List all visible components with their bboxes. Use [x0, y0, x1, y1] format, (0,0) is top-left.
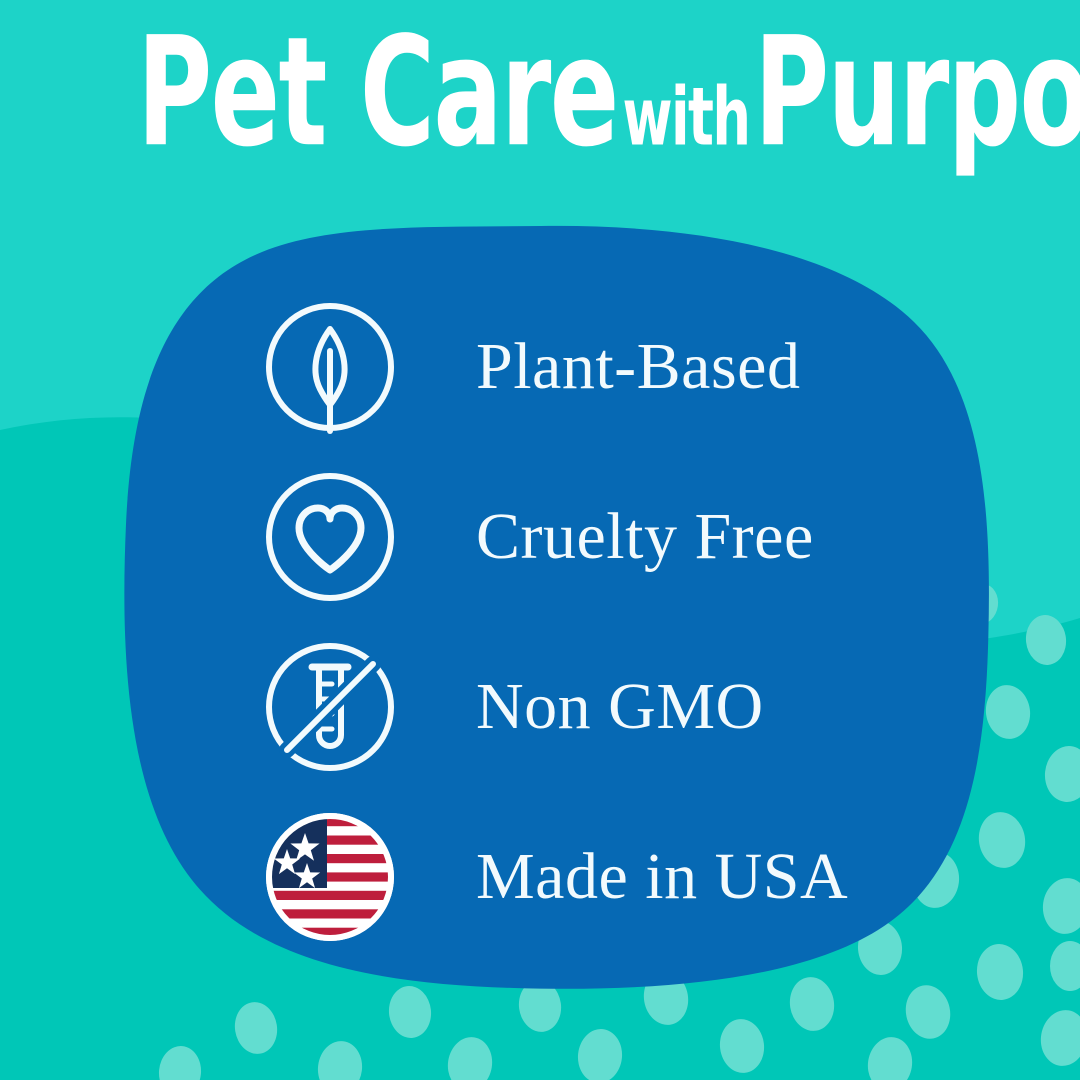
promo-graphic: Pet CarewithPurpose® Plant-Based — [0, 0, 1080, 1080]
claim-row: Made in USA — [262, 792, 902, 962]
claim-row: Plant-Based — [262, 282, 902, 452]
page-title: Pet CarewithPurpose® — [0, 18, 1080, 146]
claim-label: Made in USA — [476, 844, 848, 910]
headline-part-two: with — [618, 70, 755, 163]
headline-part-three: Purpose — [754, 5, 1080, 181]
claim-row: Cruelty Free — [262, 452, 902, 622]
leaf-in-circle-icon — [262, 299, 398, 435]
claim-row: Non GMO — [262, 622, 902, 792]
claim-label: Cruelty Free — [476, 504, 814, 570]
headline-part-one: Pet Care — [137, 5, 618, 181]
claim-label: Non GMO — [476, 674, 764, 740]
heart-in-circle-icon — [262, 469, 398, 605]
claim-label: Plant-Based — [476, 334, 800, 400]
no-test-tube-icon — [262, 639, 398, 775]
usa-flag-circle-icon — [262, 809, 398, 945]
claims-list: Plant-Based Cruelty Free — [262, 282, 902, 962]
